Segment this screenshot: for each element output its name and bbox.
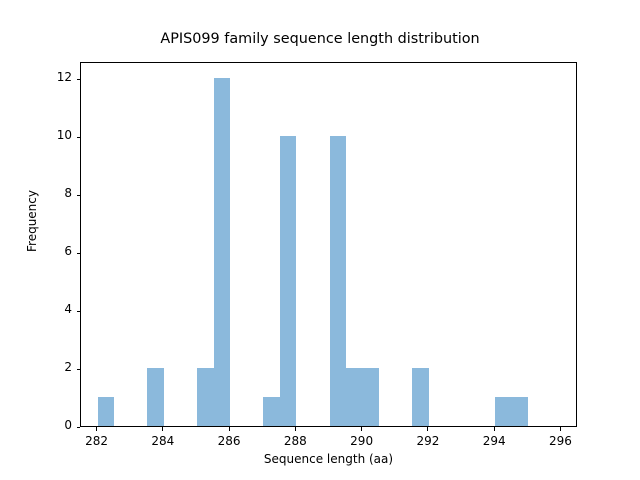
histogram-bar: [330, 136, 347, 426]
chart-title: APIS099 family sequence length distribut…: [0, 31, 640, 47]
x-tick-label: 294: [464, 434, 524, 448]
y-tick-mark: [77, 427, 81, 428]
histogram-bar: [412, 368, 429, 426]
y-tick-label: 4: [64, 302, 72, 316]
histogram-bar: [363, 368, 380, 426]
histogram-bar: [512, 397, 529, 426]
x-tick-mark: [96, 427, 97, 431]
x-axis-label: Sequence length (aa): [80, 452, 577, 466]
y-tick-mark: [77, 79, 81, 80]
x-tick-label: 286: [199, 434, 259, 448]
histogram-bar: [280, 136, 297, 426]
x-tick-mark: [229, 427, 230, 431]
x-tick-mark: [427, 427, 428, 431]
y-tick-label: 10: [57, 128, 72, 142]
histogram-bar: [263, 397, 280, 426]
histogram-bar: [147, 368, 164, 426]
x-tick-mark: [560, 427, 561, 431]
y-tick-label: 8: [64, 186, 72, 200]
x-tick-label: 290: [332, 434, 392, 448]
histogram-bar: [495, 397, 512, 426]
y-tick-label: 2: [64, 360, 72, 374]
x-tick-label: 292: [398, 434, 458, 448]
y-tick-label: 6: [64, 244, 72, 258]
y-tick-mark: [77, 137, 81, 138]
x-tick-label: 284: [133, 434, 193, 448]
histogram-bar: [197, 368, 214, 426]
y-tick-mark: [77, 369, 81, 370]
histogram-bar: [214, 78, 231, 426]
y-tick-mark: [77, 311, 81, 312]
y-tick-mark: [77, 195, 81, 196]
y-tick-mark: [77, 253, 81, 254]
y-tick-label: 0: [64, 418, 72, 432]
x-tick-label: 282: [67, 434, 127, 448]
histogram-bar: [346, 368, 363, 426]
x-tick-mark: [494, 427, 495, 431]
plot-area: [80, 62, 577, 427]
x-tick-label: 288: [265, 434, 325, 448]
y-axis-label: Frequency: [25, 41, 39, 401]
figure-canvas: APIS099 family sequence length distribut…: [0, 0, 640, 480]
x-tick-mark: [361, 427, 362, 431]
bar-series: [81, 63, 576, 426]
histogram-bar: [98, 397, 115, 426]
y-tick-label: 12: [57, 70, 72, 84]
x-tick-mark: [295, 427, 296, 431]
x-tick-label: 296: [530, 434, 590, 448]
x-tick-mark: [162, 427, 163, 431]
